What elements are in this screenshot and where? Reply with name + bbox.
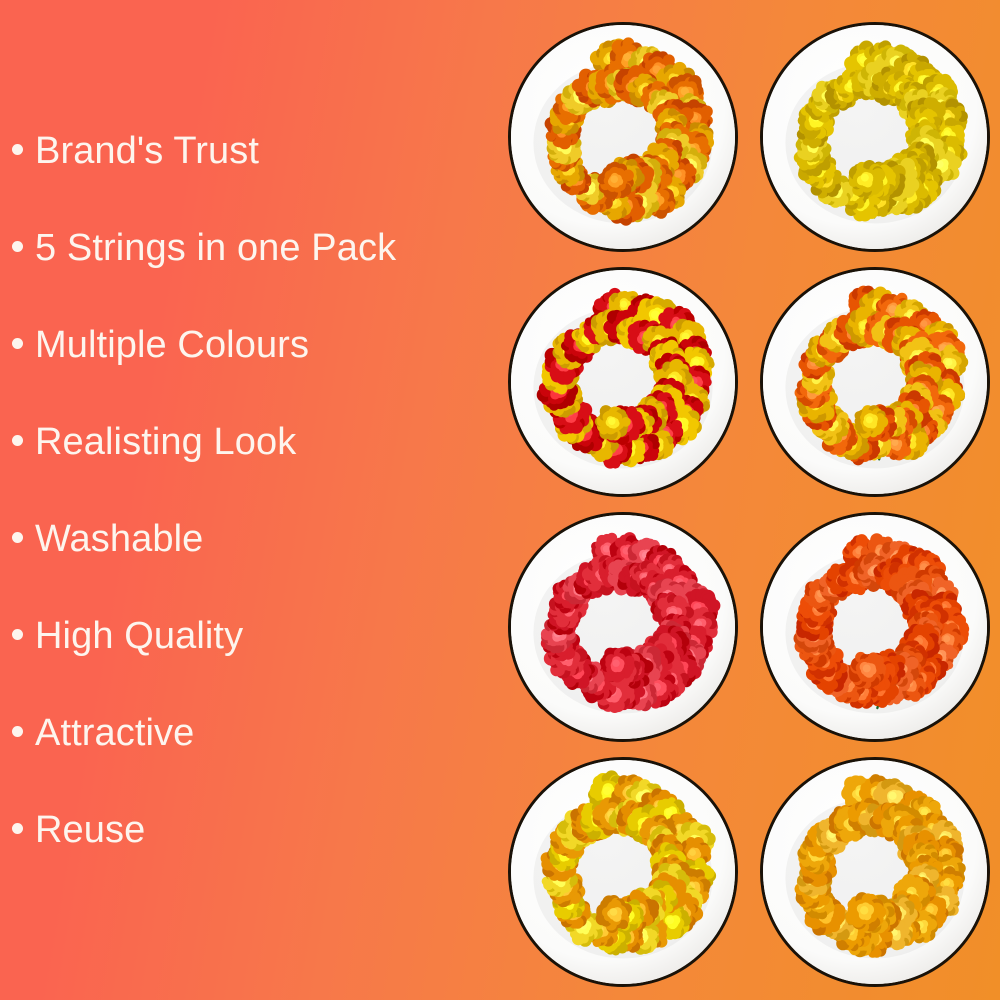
product-photo-6 xyxy=(508,757,738,987)
product-photo-3 xyxy=(760,267,990,497)
feature-item: Reuse xyxy=(12,811,500,908)
bullet-icon xyxy=(12,629,23,640)
feature-item: Attractive xyxy=(12,714,500,811)
feature-item: Multiple Colours xyxy=(12,326,500,423)
feature-label: High Quality xyxy=(35,617,243,655)
feature-item: Realisting Look xyxy=(12,423,500,520)
feature-label: Brand's Trust xyxy=(35,132,259,170)
feature-label: Washable xyxy=(35,520,203,558)
bullet-icon xyxy=(12,338,23,349)
feature-item: Brand's Trust xyxy=(12,132,500,229)
product-photo-0 xyxy=(508,22,738,252)
product-photo-grid xyxy=(508,22,992,978)
feature-label: Realisting Look xyxy=(35,423,296,461)
feature-item: Washable xyxy=(12,520,500,617)
product-photo-7 xyxy=(760,757,990,987)
feature-label: Attractive xyxy=(35,714,194,752)
bullet-icon xyxy=(12,532,23,543)
bullet-icon xyxy=(12,726,23,737)
feature-item: 5 Strings in one Pack xyxy=(12,229,500,326)
feature-label: Multiple Colours xyxy=(35,326,309,364)
feature-label: 5 Strings in one Pack xyxy=(35,229,396,267)
product-photo-2 xyxy=(508,267,738,497)
product-photo-5 xyxy=(760,512,990,742)
feature-list: Brand's Trust 5 Strings in one Pack Mult… xyxy=(0,0,500,1000)
bullet-icon xyxy=(12,823,23,834)
bullet-icon xyxy=(12,241,23,252)
feature-item: High Quality xyxy=(12,617,500,714)
product-photo-1 xyxy=(760,22,990,252)
bullet-icon xyxy=(12,435,23,446)
product-photo-4 xyxy=(508,512,738,742)
bullet-icon xyxy=(12,144,23,155)
feature-label: Reuse xyxy=(35,811,145,849)
